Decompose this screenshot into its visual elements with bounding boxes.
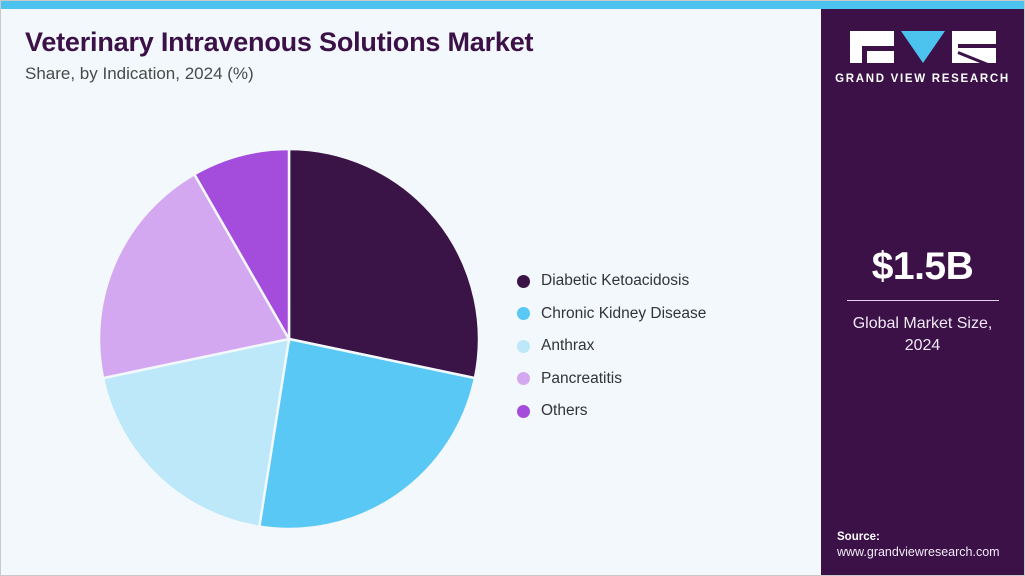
pie-chart <box>99 149 479 529</box>
page-subtitle: Share, by Indication, 2024 (%) <box>25 64 254 84</box>
market-size-stat: $1.5B Global Market Size, 2024 <box>821 247 1024 356</box>
brand-panel: GRAND VIEW RESEARCH $1.5B Global Market … <box>821 9 1024 576</box>
legend-item[interactable]: Chronic Kidney Disease <box>517 298 807 331</box>
logo-marks <box>821 31 1024 65</box>
legend-item-label: Chronic Kidney Disease <box>541 305 706 323</box>
source-block: Source: www.grandviewresearch.com <box>837 531 1025 559</box>
legend-color-swatch <box>517 340 530 353</box>
top-accent-bar <box>1 1 1025 9</box>
chart-infographic: Veterinary Intravenous Solutions Market … <box>0 0 1025 576</box>
legend-color-swatch <box>517 275 530 288</box>
logo: GRAND VIEW RESEARCH <box>821 31 1024 85</box>
stat-caption: Global Market Size, 2024 <box>821 313 1024 356</box>
page-title: Veterinary Intravenous Solutions Market <box>25 27 533 58</box>
stat-value: $1.5B <box>821 247 1024 286</box>
source-url[interactable]: www.grandviewresearch.com <box>837 545 1025 559</box>
chart-panel: Veterinary Intravenous Solutions Market … <box>1 9 823 576</box>
logo-g-icon <box>850 31 894 63</box>
legend-color-swatch <box>517 307 530 320</box>
legend-item-label: Others <box>541 402 588 420</box>
legend-item[interactable]: Others <box>517 395 807 428</box>
legend-item[interactable]: Diabetic Ketoacidosis <box>517 265 807 298</box>
legend-item[interactable]: Pancreatitis <box>517 363 807 396</box>
logo-v-icon <box>901 31 945 63</box>
source-label: Source: <box>837 531 1025 543</box>
stat-divider <box>847 300 999 301</box>
legend-item-label: Pancreatitis <box>541 370 622 388</box>
logo-wordmark: GRAND VIEW RESEARCH <box>821 73 1024 85</box>
chart-legend: Diabetic KetoacidosisChronic Kidney Dise… <box>517 265 807 428</box>
legend-item-label: Diabetic Ketoacidosis <box>541 272 689 290</box>
legend-color-swatch <box>517 405 530 418</box>
legend-item-label: Anthrax <box>541 337 594 355</box>
pie-chart-svg <box>99 149 479 529</box>
legend-color-swatch <box>517 372 530 385</box>
logo-r-icon <box>952 31 996 63</box>
legend-item[interactable]: Anthrax <box>517 330 807 363</box>
